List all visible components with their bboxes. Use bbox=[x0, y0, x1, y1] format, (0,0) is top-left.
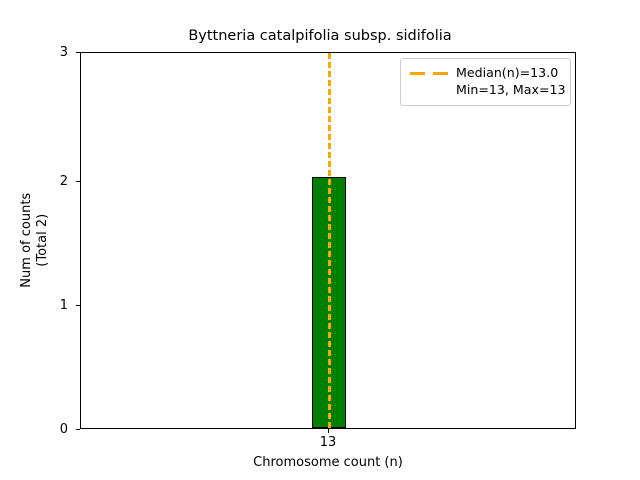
legend-entry-median: Median(n)=13.0 Min=13, Max=13 bbox=[408, 65, 563, 98]
x-axis-label: Chromosome count (n) bbox=[80, 455, 576, 470]
legend-label-minmax: Min=13, Max=13 bbox=[456, 82, 566, 99]
y-axis-label-wrap: Num of counts (Total 2) bbox=[18, 52, 52, 429]
y-axis-label-line1: Num of counts bbox=[19, 193, 34, 288]
legend-label-median: Median(n)=13.0 bbox=[456, 65, 558, 80]
y-tick-mark-0 bbox=[76, 429, 80, 430]
median-line bbox=[328, 53, 331, 428]
chart-figure: Byttneria catalpifolia subsp. sidifolia … bbox=[0, 0, 640, 480]
y-axis-label: Num of counts (Total 2) bbox=[19, 193, 52, 288]
chart-legend[interactable]: Median(n)=13.0 Min=13, Max=13 bbox=[400, 58, 571, 106]
y-axis-label-line2: (Total 2) bbox=[35, 193, 51, 288]
x-tick-label-13: 13 bbox=[320, 435, 337, 450]
dashed-line-icon bbox=[408, 65, 450, 81]
x-tick-mark-13 bbox=[328, 429, 329, 433]
plot-area bbox=[81, 53, 575, 428]
plot-axes bbox=[80, 52, 576, 429]
page-title: Byttneria catalpifolia subsp. sidifolia bbox=[0, 28, 640, 44]
legend-text-block: Median(n)=13.0 Min=13, Max=13 bbox=[456, 65, 566, 98]
